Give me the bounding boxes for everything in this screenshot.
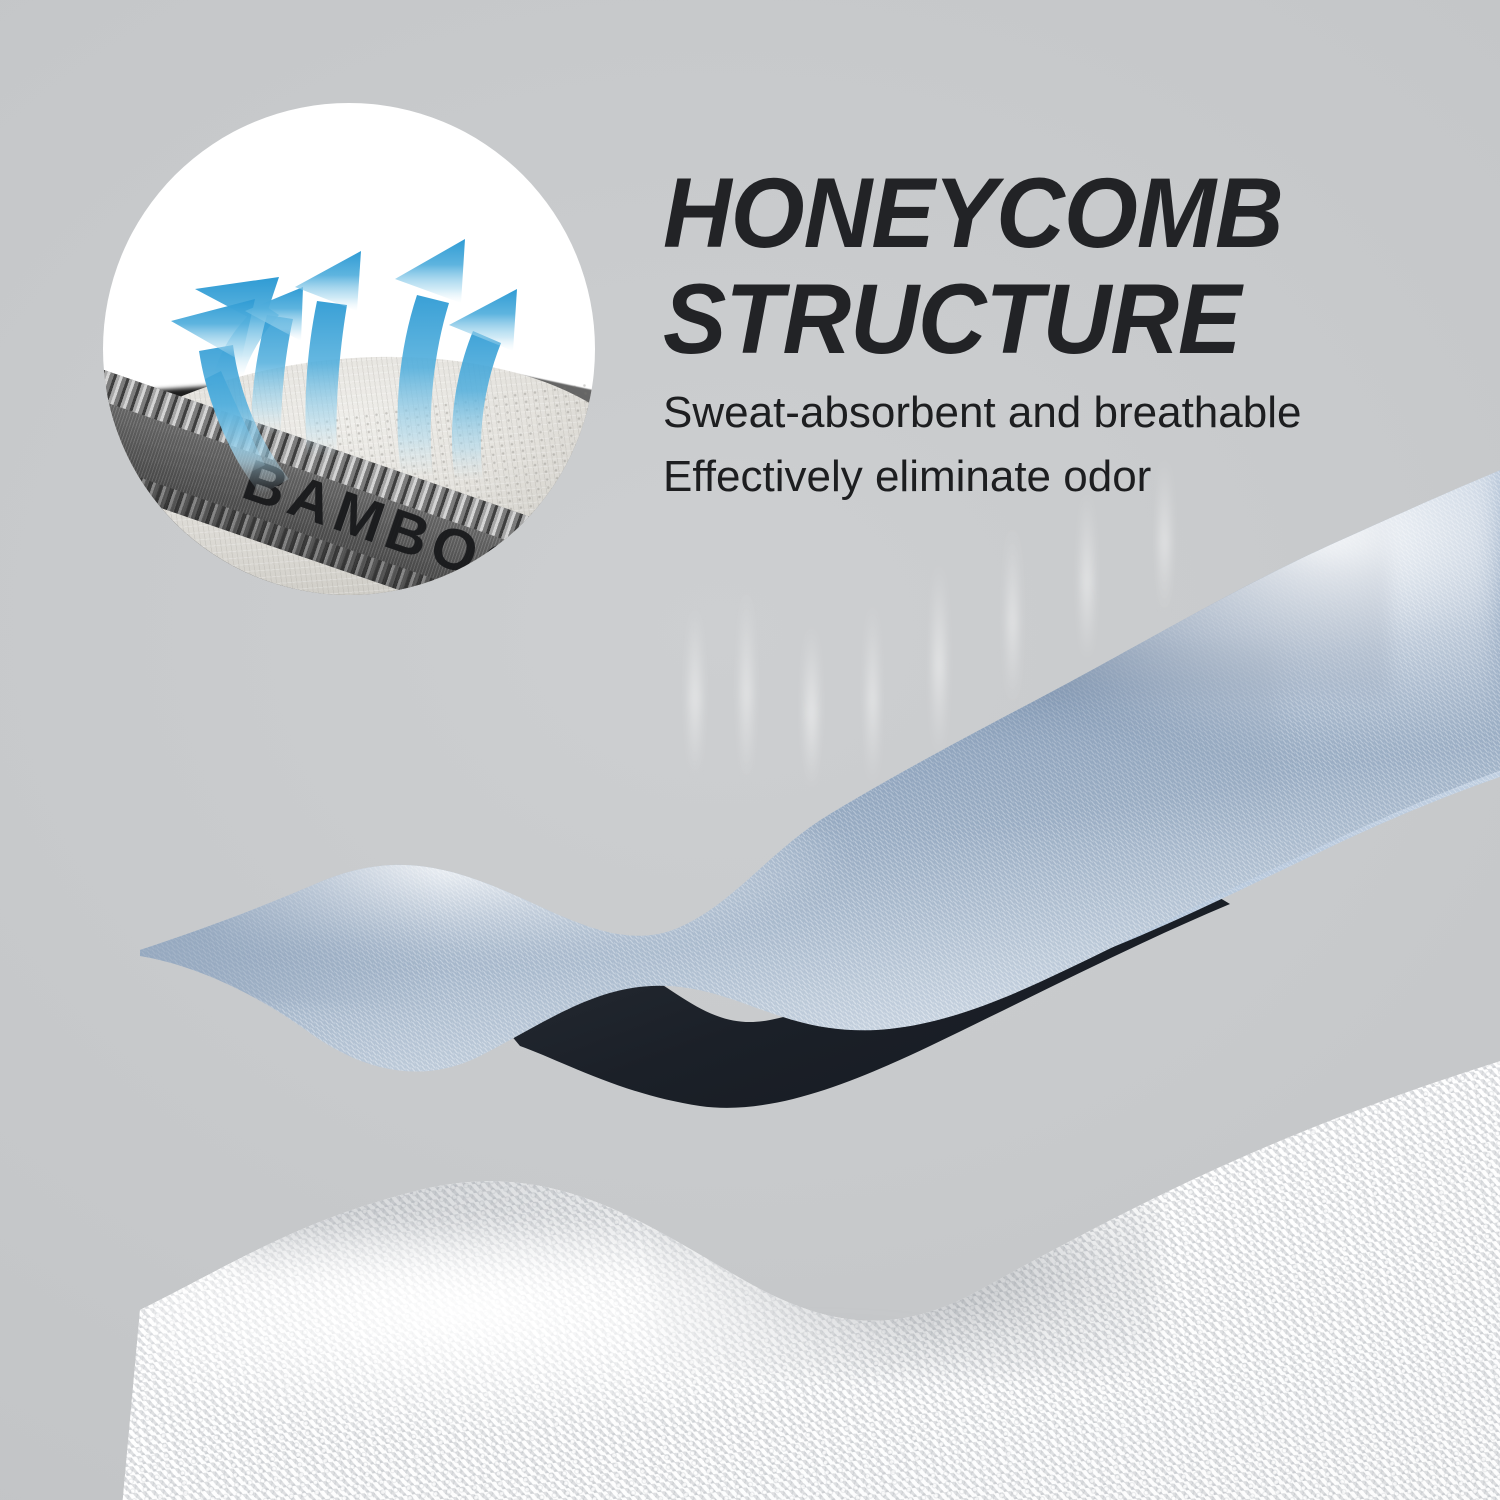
vapor-streak [868,596,877,786]
vapor-streak [742,582,751,787]
vapor-streak [1082,486,1092,661]
headline-line-1: HONEYCOMB [663,160,1412,266]
vapor-streak [690,600,700,780]
airflow-arrow-5-tail [452,331,501,481]
airflow-arrow-3-tail [305,301,347,457]
airflow-arrow-4-tail [398,295,449,477]
airflow-arrow-4-head [395,239,465,303]
headline-line-2: STRUCTURE [663,266,1412,372]
vapor-streak [806,620,817,790]
subtitle-line-1: Sweat-absorbent and breathable [663,381,1423,445]
subtitle-line-2: Effectively eliminate odor [663,445,1423,509]
product-feature-banner: HONEYCOMB STRUCTURE Sweat-absorbent and … [0,0,1500,1500]
page-subtitle: Sweat-absorbent and breathable Effective… [663,381,1423,509]
breathability-closeup-circle: BAMBOO [103,103,595,595]
airflow-arrows [103,103,595,595]
vapor-streak [934,556,944,756]
airflow-arrow-3-head [295,251,361,311]
page-title: HONEYCOMB STRUCTURE [663,160,1412,372]
vapor-streak [1008,520,1017,705]
